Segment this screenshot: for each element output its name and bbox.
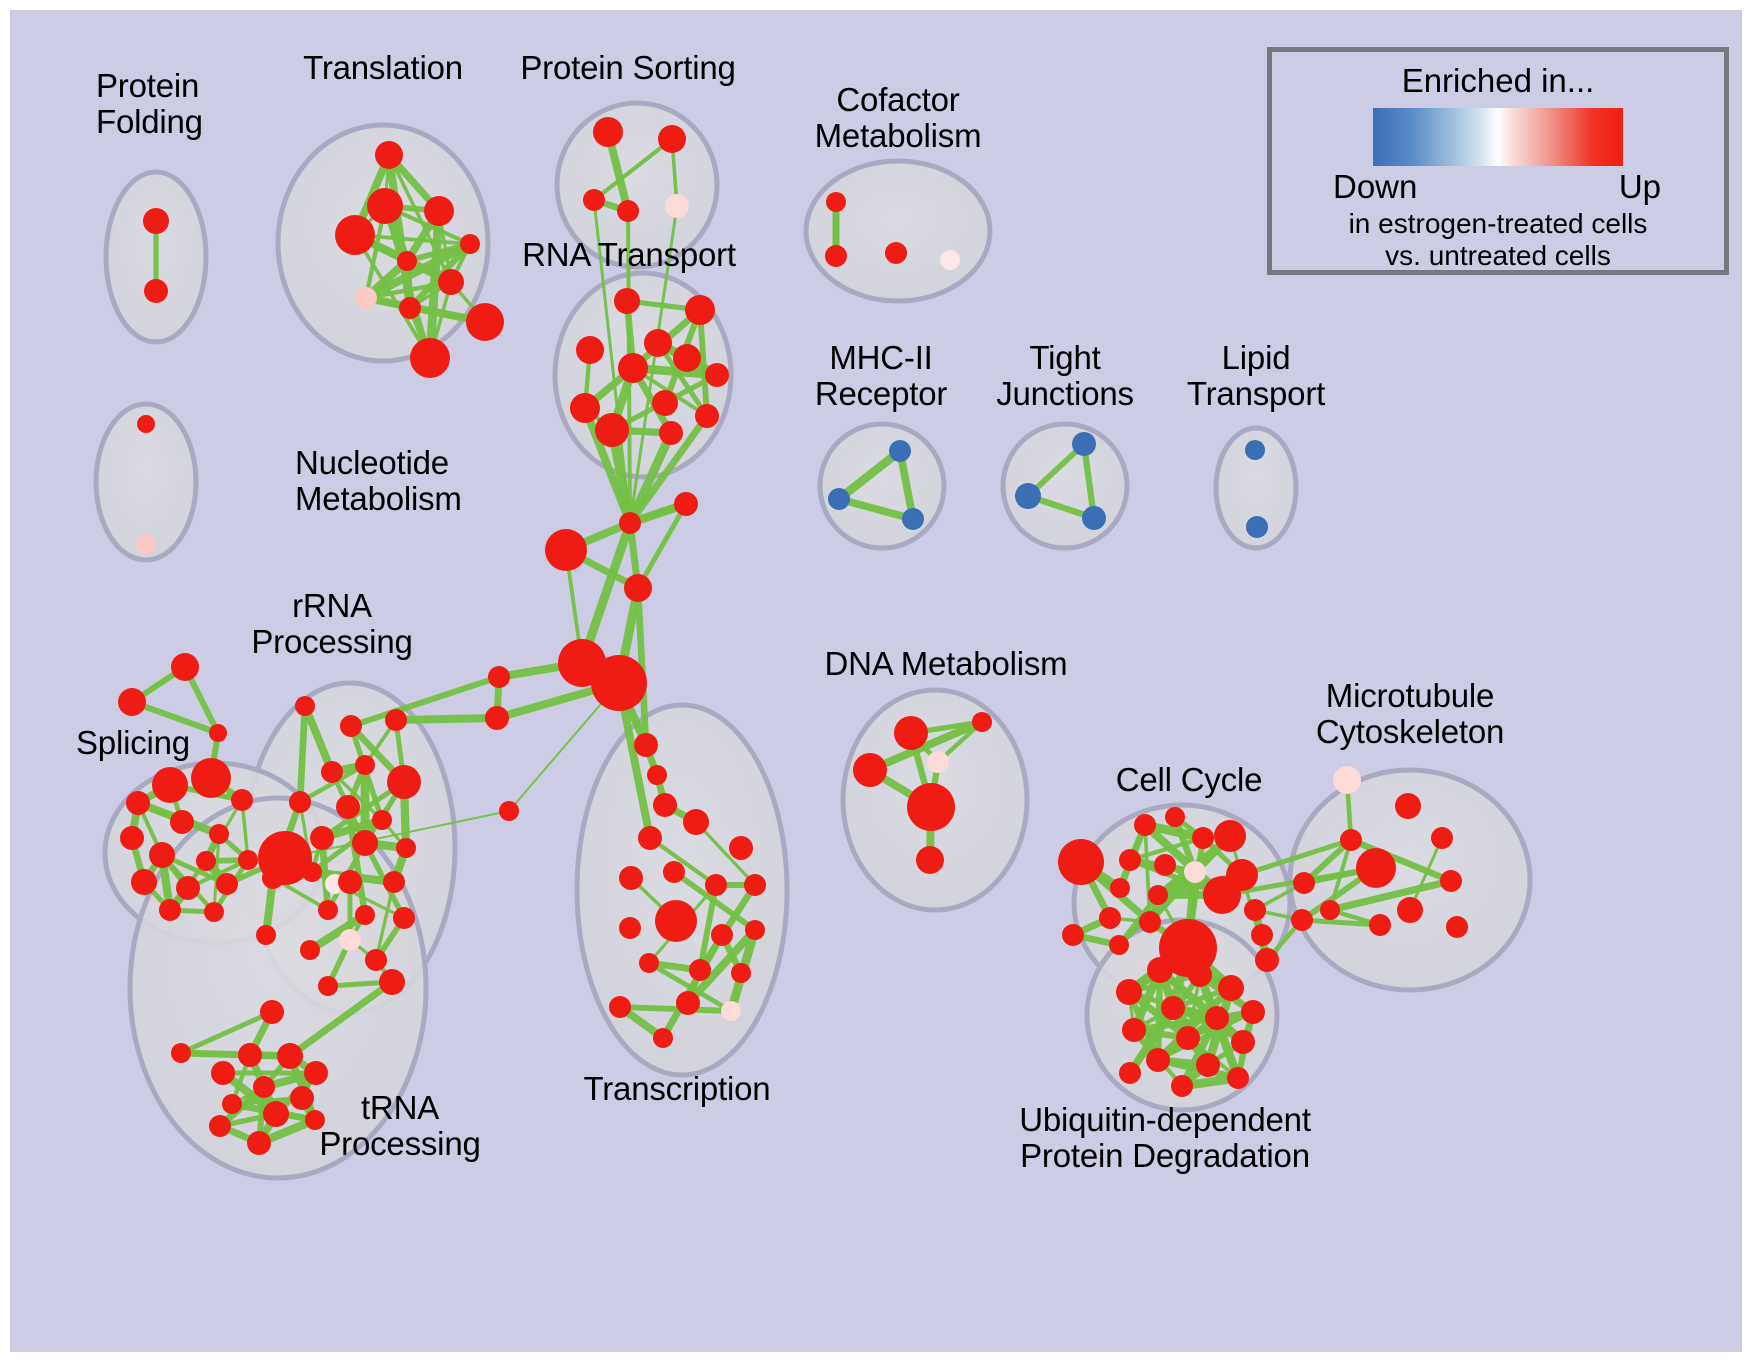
- network-node[interactable]: [355, 755, 375, 775]
- network-node[interactable]: [1176, 1026, 1200, 1050]
- network-node[interactable]: [1251, 924, 1273, 946]
- network-node[interactable]: [614, 288, 640, 314]
- network-node[interactable]: [485, 706, 509, 730]
- network-node[interactable]: [1340, 829, 1362, 851]
- legend-up-label: Up: [1619, 168, 1661, 206]
- network-node[interactable]: [1446, 916, 1468, 938]
- cluster-label-protein-folding: Protein Folding: [96, 68, 203, 139]
- network-node[interactable]: [570, 393, 600, 423]
- network-node[interactable]: [695, 404, 719, 428]
- cluster-label-tight-junctions: Tight Junctions: [996, 340, 1134, 411]
- network-node[interactable]: [828, 488, 850, 510]
- network-node[interactable]: [689, 959, 711, 981]
- network-node[interactable]: [191, 758, 231, 798]
- network-node[interactable]: [619, 866, 643, 890]
- network-node[interactable]: [372, 810, 392, 830]
- network-node[interactable]: [1165, 807, 1185, 827]
- network-node[interactable]: [383, 871, 405, 893]
- cluster-label-microtubule: Microtubule Cytoskeleton: [1316, 678, 1504, 749]
- network-node[interactable]: [711, 924, 733, 946]
- network-node[interactable]: [256, 925, 276, 945]
- network-node[interactable]: [159, 899, 181, 921]
- network-node[interactable]: [826, 192, 846, 212]
- network-node[interactable]: [1397, 897, 1423, 923]
- network-node[interactable]: [1218, 975, 1244, 1001]
- network-node[interactable]: [1192, 827, 1214, 849]
- network-node[interactable]: [940, 250, 960, 270]
- network-node[interactable]: [889, 440, 911, 462]
- network-node[interactable]: [653, 1028, 673, 1048]
- network-node[interactable]: [1245, 440, 1265, 460]
- network-node[interactable]: [375, 141, 403, 169]
- network-node[interactable]: [1184, 861, 1206, 883]
- cluster-label-lipid-transport: Lipid Transport: [1187, 340, 1325, 411]
- network-node[interactable]: [302, 862, 322, 882]
- network-node[interactable]: [137, 415, 155, 433]
- network-node[interactable]: [663, 861, 685, 883]
- network-node[interactable]: [1058, 839, 1104, 885]
- network-node[interactable]: [1333, 766, 1361, 794]
- network-node[interactable]: [295, 696, 315, 716]
- network-node[interactable]: [1188, 963, 1212, 987]
- network-node[interactable]: [438, 269, 464, 295]
- network-node[interactable]: [853, 753, 887, 787]
- network-node[interactable]: [721, 1001, 741, 1021]
- cluster-label-nucleotide: Nucleotide Metabolism: [295, 445, 462, 516]
- network-node[interactable]: [209, 824, 229, 844]
- cluster-region-mhc-ii: [820, 424, 944, 548]
- network-node[interactable]: [1214, 820, 1246, 852]
- network-node[interactable]: [118, 688, 146, 716]
- network-node[interactable]: [1122, 1018, 1146, 1042]
- network-node[interactable]: [424, 196, 454, 226]
- network-node[interactable]: [652, 390, 678, 416]
- network-node[interactable]: [1227, 1067, 1249, 1089]
- cluster-label-splicing: Splicing: [76, 725, 190, 761]
- network-node[interactable]: [355, 287, 377, 309]
- network-node[interactable]: [1116, 979, 1142, 1005]
- network-node[interactable]: [399, 297, 421, 319]
- network-node[interactable]: [460, 234, 480, 254]
- network-node[interactable]: [624, 574, 652, 602]
- network-node[interactable]: [1139, 911, 1161, 933]
- network-node[interactable]: [1119, 1062, 1141, 1084]
- network-node[interactable]: [340, 715, 362, 737]
- network-node[interactable]: [644, 329, 672, 357]
- network-node[interactable]: [1291, 909, 1313, 931]
- network-node[interactable]: [576, 336, 604, 364]
- figure-root: Protein FoldingTranslationProtein Sortin…: [0, 0, 1750, 1360]
- network-node[interactable]: [247, 1131, 271, 1155]
- network-node[interactable]: [318, 976, 338, 996]
- network-node[interactable]: [705, 363, 729, 387]
- network-node[interactable]: [1395, 793, 1421, 819]
- network-node[interactable]: [216, 873, 238, 895]
- network-node[interactable]: [222, 1094, 242, 1114]
- network-node[interactable]: [1171, 1075, 1193, 1097]
- network-node[interactable]: [683, 809, 709, 835]
- network-node[interactable]: [1244, 899, 1266, 921]
- network-node[interactable]: [825, 245, 847, 267]
- network-node[interactable]: [1320, 900, 1340, 920]
- network-node[interactable]: [263, 1101, 289, 1127]
- cluster-label-mhc-ii: MHC-II Receptor: [815, 340, 947, 411]
- network-node[interactable]: [1015, 483, 1041, 509]
- network-node[interactable]: [1203, 876, 1241, 914]
- network-node[interactable]: [1154, 854, 1176, 876]
- network-node[interactable]: [1440, 870, 1462, 892]
- network-node[interactable]: [397, 251, 417, 271]
- legend-color-bar: [1373, 108, 1623, 166]
- network-node[interactable]: [1246, 516, 1268, 538]
- network-node[interactable]: [209, 1115, 231, 1137]
- network-node[interactable]: [1148, 885, 1168, 905]
- network-node[interactable]: [339, 929, 361, 951]
- network-node[interactable]: [318, 900, 338, 920]
- network-node[interactable]: [387, 765, 421, 799]
- network-node[interactable]: [619, 917, 641, 939]
- cluster-label-cofactor: Cofactor Metabolism: [815, 82, 982, 153]
- network-node[interactable]: [365, 949, 387, 971]
- network-node[interactable]: [655, 900, 697, 942]
- network-node[interactable]: [705, 874, 727, 896]
- network-node[interactable]: [1161, 996, 1185, 1020]
- network-node[interactable]: [894, 716, 928, 750]
- network-node[interactable]: [488, 666, 510, 688]
- network-node[interactable]: [674, 492, 698, 516]
- network-node[interactable]: [638, 826, 662, 850]
- network-node[interactable]: [1147, 957, 1173, 983]
- network-node[interactable]: [321, 761, 343, 783]
- network-node[interactable]: [277, 1043, 303, 1069]
- network-node[interactable]: [152, 767, 188, 803]
- network-node[interactable]: [744, 874, 766, 896]
- cluster-label-dna-metabolism: DNA Metabolism: [825, 646, 1068, 682]
- network-node[interactable]: [396, 838, 416, 858]
- network-node[interactable]: [907, 783, 955, 831]
- network-node[interactable]: [1293, 872, 1315, 894]
- network-node[interactable]: [171, 653, 199, 681]
- network-node[interactable]: [171, 1043, 191, 1063]
- network-node[interactable]: [885, 242, 907, 264]
- network-node[interactable]: [289, 791, 311, 813]
- network-node[interactable]: [231, 789, 253, 811]
- network-node[interactable]: [1241, 1000, 1265, 1024]
- network-node[interactable]: [304, 1061, 328, 1085]
- network-node[interactable]: [143, 208, 169, 234]
- network-node[interactable]: [1231, 1030, 1255, 1054]
- network-node[interactable]: [1099, 907, 1121, 929]
- network-node[interactable]: [1196, 1053, 1220, 1077]
- network-node[interactable]: [170, 810, 194, 834]
- network-node[interactable]: [745, 920, 765, 940]
- network-node[interactable]: [593, 117, 623, 147]
- network-node[interactable]: [410, 338, 450, 378]
- network-node[interactable]: [634, 733, 658, 757]
- network-node[interactable]: [385, 709, 407, 731]
- cluster-label-ubiquitin: Ubiquitin-dependent Protein Degradation: [1019, 1102, 1311, 1173]
- network-node[interactable]: [659, 421, 683, 445]
- network-node[interactable]: [310, 826, 334, 850]
- legend-box: Enriched in... Down Up in estrogen-treat…: [1267, 47, 1729, 275]
- network-node[interactable]: [618, 353, 648, 383]
- network-node[interactable]: [972, 712, 992, 732]
- network-node[interactable]: [591, 655, 647, 711]
- network-node[interactable]: [639, 953, 659, 973]
- network-node[interactable]: [1110, 878, 1130, 898]
- network-edge: [396, 718, 497, 720]
- network-node[interactable]: [290, 1086, 314, 1110]
- network-node[interactable]: [902, 508, 924, 530]
- network-node[interactable]: [300, 940, 320, 960]
- network-node[interactable]: [149, 842, 175, 868]
- network-node[interactable]: [499, 801, 519, 821]
- network-node[interactable]: [209, 724, 227, 742]
- cluster-label-translation: Translation: [303, 50, 463, 86]
- network-node[interactable]: [253, 1076, 275, 1098]
- network-node[interactable]: [1072, 432, 1096, 456]
- network-node[interactable]: [335, 215, 375, 255]
- network-node[interactable]: [1205, 1006, 1229, 1030]
- network-node[interactable]: [379, 969, 405, 995]
- network-node[interactable]: [676, 991, 700, 1015]
- network-node[interactable]: [658, 125, 686, 153]
- network-node[interactable]: [1356, 848, 1396, 888]
- network-node[interactable]: [126, 791, 150, 815]
- network-edge: [620, 1007, 731, 1011]
- network-node[interactable]: [211, 1061, 235, 1085]
- network-node[interactable]: [176, 876, 200, 900]
- network-node[interactable]: [352, 830, 378, 856]
- network-node[interactable]: [367, 188, 403, 224]
- network-node[interactable]: [1109, 935, 1129, 955]
- cluster-label-rna-transport: RNA Transport: [522, 237, 736, 273]
- network-node[interactable]: [196, 851, 216, 871]
- cluster-label-transcription: Transcription: [584, 1071, 771, 1107]
- network-node[interactable]: [916, 846, 944, 874]
- network-node[interactable]: [136, 534, 156, 554]
- network-node[interactable]: [1369, 914, 1391, 936]
- cluster-label-cell-cycle: Cell Cycle: [1116, 762, 1263, 798]
- figure-panel: Protein FoldingTranslationProtein Sortin…: [10, 10, 1742, 1352]
- legend-end-labels: Down Up: [1333, 168, 1663, 208]
- network-node[interactable]: [545, 529, 587, 571]
- legend-caption-line1: in estrogen-treated cells: [1272, 208, 1724, 240]
- network-node[interactable]: [1146, 1048, 1170, 1072]
- legend-down-label: Down: [1333, 168, 1417, 206]
- network-node[interactable]: [1062, 924, 1084, 946]
- legend-title: Enriched in...: [1272, 62, 1724, 100]
- network-node[interactable]: [1119, 849, 1141, 871]
- network-node[interactable]: [647, 765, 667, 785]
- network-node[interactable]: [583, 189, 605, 211]
- network-node[interactable]: [617, 200, 639, 222]
- network-node[interactable]: [336, 795, 360, 819]
- network-node[interactable]: [673, 344, 701, 372]
- network-node[interactable]: [1134, 814, 1156, 836]
- network-node[interactable]: [665, 194, 689, 218]
- network-node[interactable]: [393, 907, 415, 929]
- network-node[interactable]: [131, 869, 157, 895]
- network-node[interactable]: [619, 512, 641, 534]
- network-node[interactable]: [685, 295, 715, 325]
- cluster-label-protein-sorting: Protein Sorting: [520, 50, 735, 86]
- cluster-label-trna-processing: tRNA Processing: [319, 1090, 480, 1161]
- cluster-label-rrna-processing: rRNA Processing: [251, 588, 412, 659]
- network-node[interactable]: [260, 1000, 284, 1024]
- network-node[interactable]: [238, 850, 258, 870]
- network-node[interactable]: [927, 751, 949, 773]
- network-node[interactable]: [729, 836, 753, 860]
- network-node[interactable]: [262, 867, 284, 889]
- network-node[interactable]: [144, 279, 168, 303]
- network-node[interactable]: [731, 963, 751, 983]
- network-node[interactable]: [653, 793, 677, 817]
- network-node[interactable]: [595, 413, 629, 447]
- network-node[interactable]: [355, 905, 375, 925]
- network-node[interactable]: [1082, 506, 1106, 530]
- legend-caption-line2: vs. untreated cells: [1272, 240, 1724, 272]
- network-node[interactable]: [238, 1043, 262, 1067]
- network-node[interactable]: [1431, 827, 1453, 849]
- network-node[interactable]: [338, 870, 362, 894]
- network-node[interactable]: [120, 826, 144, 850]
- network-node[interactable]: [609, 996, 631, 1018]
- network-node[interactable]: [204, 902, 224, 922]
- network-node[interactable]: [1255, 948, 1279, 972]
- network-node[interactable]: [466, 303, 504, 341]
